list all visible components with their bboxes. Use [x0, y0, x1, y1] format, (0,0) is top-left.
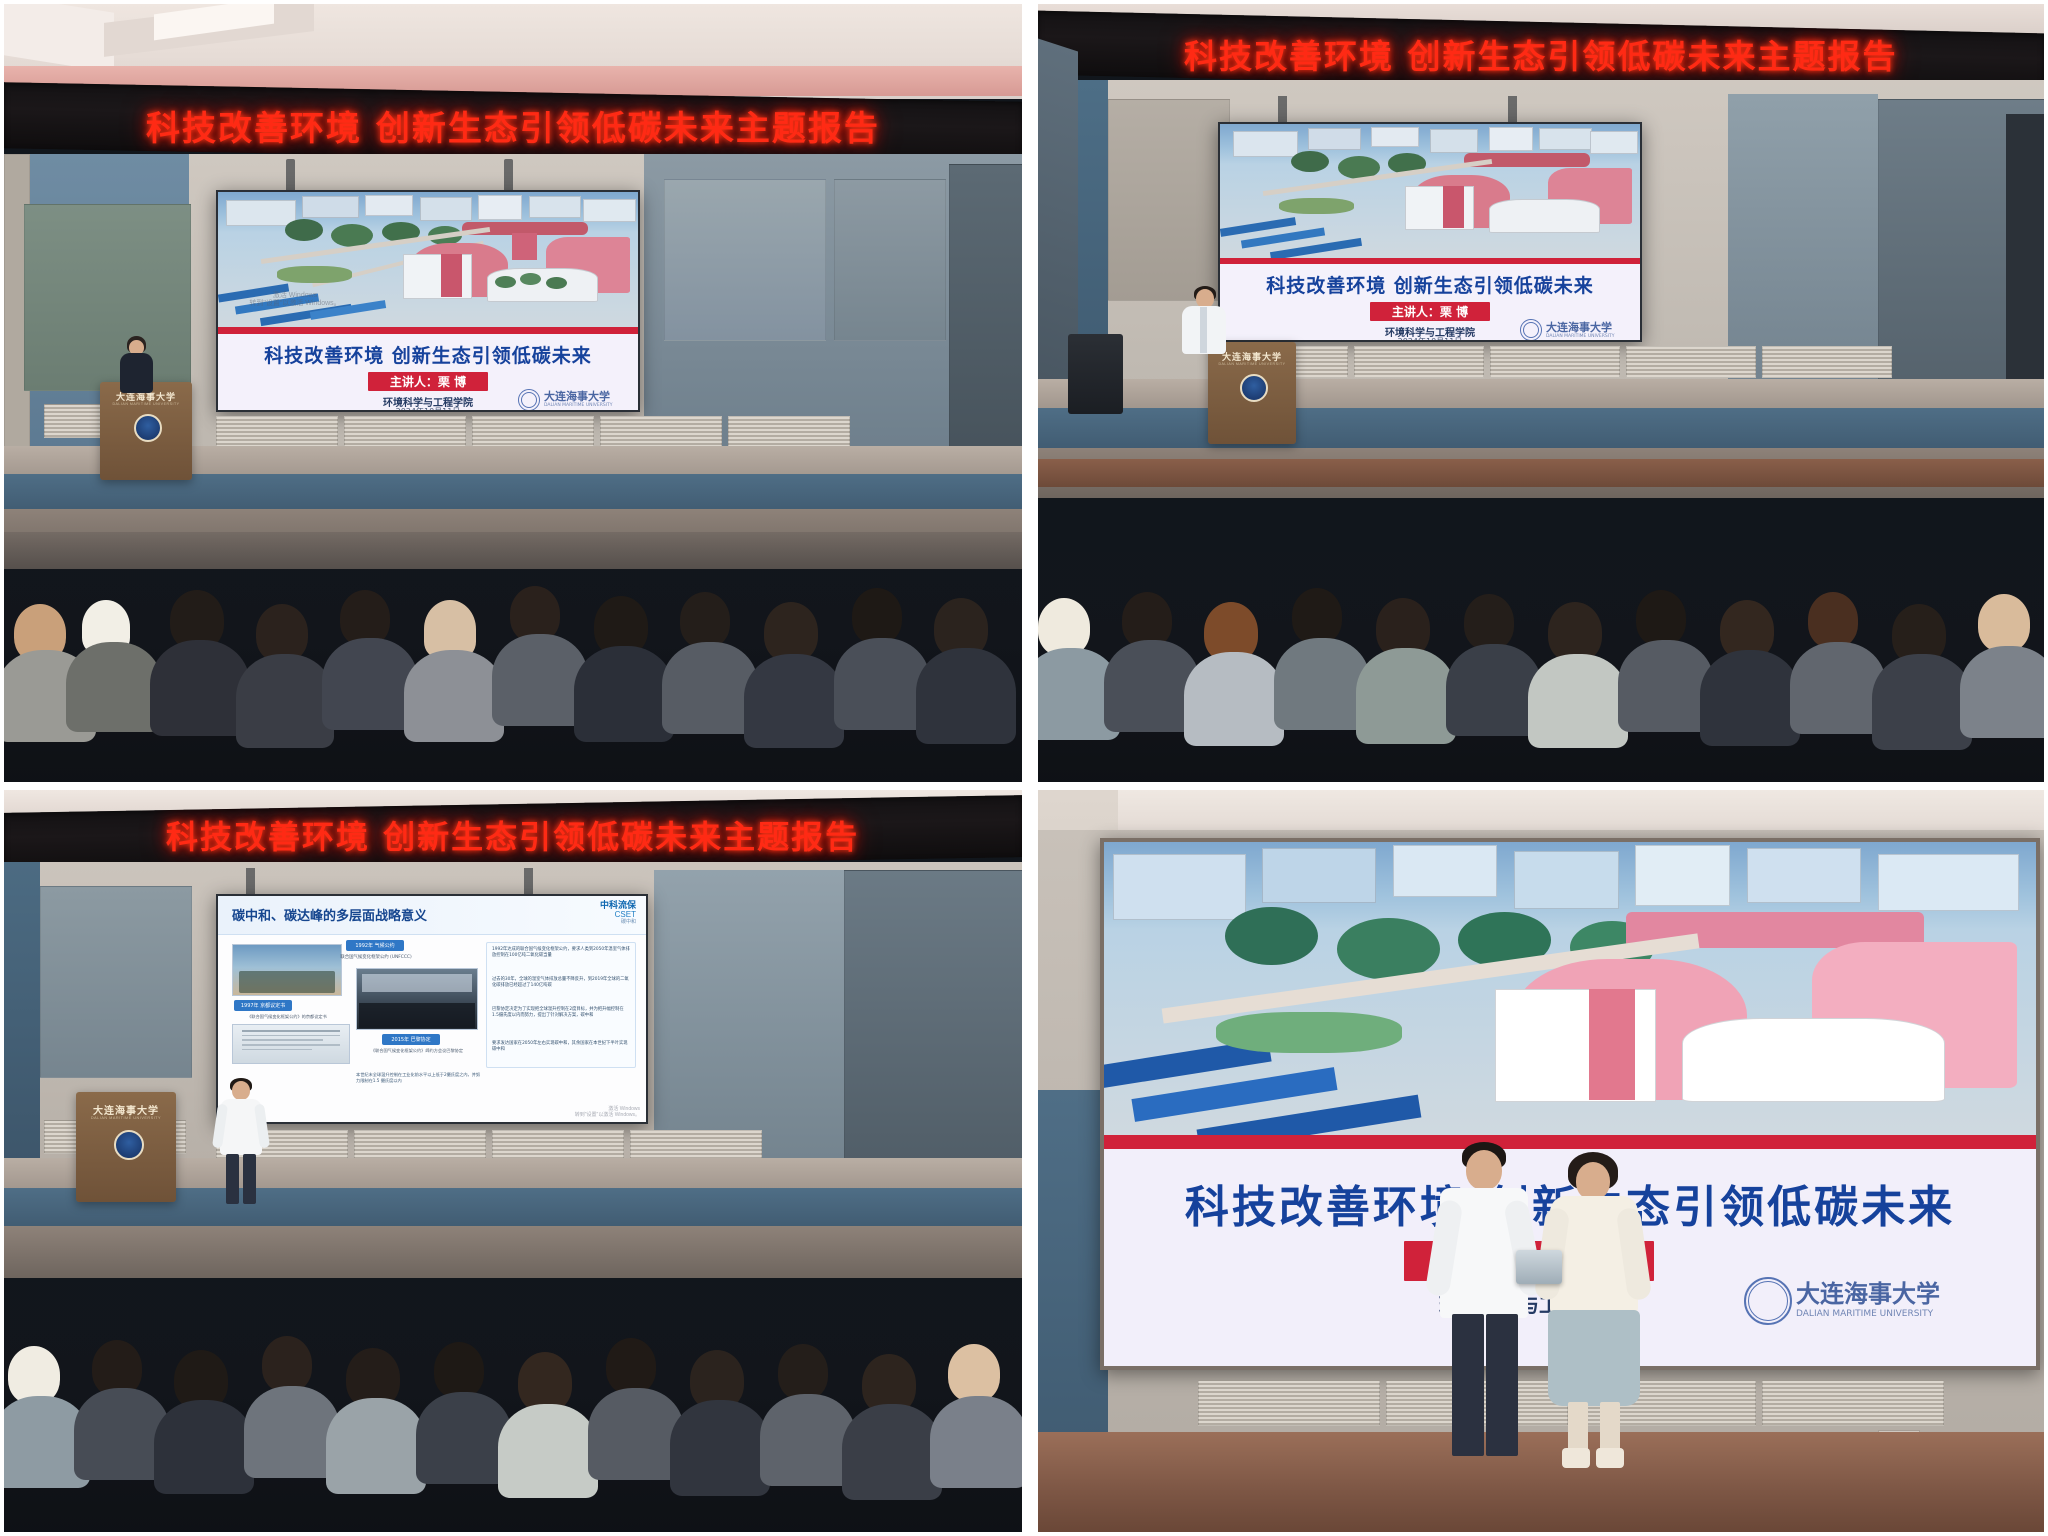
campus-illustration: [1104, 842, 2036, 1135]
projection-screen: 碳中和、碳达峰的多层面战略意义 中科流保 CSET 碳中和 1992年 气候公约…: [216, 894, 648, 1124]
title-slide: 科技改善环境 创新生态引领低碳未来 主讲人：栗 博 环境科学与工程学院 2024…: [218, 192, 638, 410]
award-plaque: [1516, 1250, 1562, 1284]
wall-louver: [216, 416, 338, 448]
title-slide: 科技改善环境 创新生态引领低碳未来 主讲人：栗 博 环境科学与工程学院 2024…: [1220, 124, 1640, 340]
shoe: [1596, 1448, 1624, 1468]
award-presenter-female: [1534, 1152, 1654, 1468]
bullet-4: 要求发达国家在2050年左右实现碳中和，其余国家在本世纪下半叶实现碳中和: [492, 1041, 630, 1054]
slide-main-title: 科技改善环境 创新生态引领低碳未来: [1220, 271, 1640, 298]
timeline-caption-1: 联合国气候变化框架公约 (UNFCCC): [340, 954, 412, 960]
podium-university-name-en: DALIAN MARITIME UNIVERSITY: [100, 402, 192, 406]
podium: 大连海事大学 DALIAN MARITIME UNIVERSITY: [1208, 342, 1296, 444]
wall-panel: [1108, 99, 1230, 301]
university-seal-icon: [1744, 1277, 1792, 1325]
timeline-photo-1: [232, 944, 342, 996]
university-name: 大连海事大学: [544, 391, 613, 402]
windows-activation-watermark: 激活 Windows 转到"设置"以激活 Windows。: [544, 1106, 640, 1119]
slide-footnote: 本世纪末全球温升控制在工业化前水平以上低于2摄氏度之内，并努力限制在1.5 摄氏…: [356, 1072, 482, 1085]
bullets-panel: 1992年达成的联合国气候变化框架公约，要求人类到2050年温室气体排放控制在1…: [486, 942, 636, 1068]
university-logo: 大连海事大学 DALIAN MARITIME UNIVERSITY: [518, 389, 613, 411]
projection-screen: 科技改善环境 创新生态引领低碳未来 主讲人：栗 博 环境科学与工程学院 2024…: [1218, 122, 1642, 342]
wall-louver: [1762, 346, 1892, 378]
side-wall-blue: [1038, 1090, 1108, 1490]
screen-bracket: [1508, 96, 1517, 124]
timeline-year-2: 1997年 京都议定书: [234, 1000, 292, 1011]
university-name-en: DALIAN MARITIME UNIVERSITY: [1796, 1310, 1940, 1319]
university-seal-icon: [1520, 319, 1542, 341]
hall-floor: [4, 1226, 1022, 1278]
wall-louver: [344, 416, 466, 448]
bullet-2: 过去的30年，全球的温室气体排放总量不降反升，到2019年全球的二氧化碳排放已经…: [492, 977, 630, 990]
speaker-badge: 主讲人：栗 博: [368, 372, 488, 391]
speaker-presenter: [1178, 286, 1230, 352]
podium-university-name-en: DALIAN MARITIME UNIVERSITY: [1208, 362, 1296, 366]
side-wall-left: [4, 862, 40, 1162]
skirt: [1548, 1310, 1640, 1406]
university-name: 大连海事大学: [1796, 1282, 1940, 1306]
audience-seating: [1038, 552, 2044, 782]
podium: 大连海事大学 DALIAN MARITIME UNIVERSITY: [76, 1092, 176, 1202]
csei-logo-tag: 碳中和: [600, 920, 636, 925]
timeline-caption-3: 《联合国气候变化框架公约》缔约方会议巴黎协定: [358, 1048, 476, 1054]
screen-bracket: [246, 868, 255, 896]
bullet-1: 1992年达成的联合国气候变化框架公约，要求人类到2050年温室气体排放控制在1…: [492, 947, 630, 960]
wall-louver: [1490, 346, 1620, 378]
title-slide-body: 科技改善环境 创新生态引领低碳未来 主讲人：栗 博 环境科学与工程学院 2024…: [218, 334, 638, 410]
floor-strip: [1038, 459, 2044, 487]
title-slide-body: 科技改善环境 创新生态引领低碳未来 主讲人：栗 博 环境科学与工程学院 2024…: [1220, 264, 1640, 340]
timeline-year-3: 2015年 巴黎协定: [382, 1034, 440, 1045]
podium: 大连海事大学 DALIAN MARITIME UNIVERSITY: [100, 382, 192, 480]
university-logo: 大连海事大学 DALIAN MARITIME UNIVERSITY: [1520, 319, 1615, 341]
slide-date: 2024年10月11日: [1350, 336, 1510, 342]
doorway: [2006, 114, 2044, 384]
wall-panel-dark: [949, 164, 1022, 456]
wall-louver: [472, 416, 594, 448]
panel-2-speaker-presenting: 科技改善环境 创新生态引领低碳未来主题报告: [1038, 4, 2044, 782]
university-name: 大连海事大学: [1546, 322, 1615, 333]
slide-date: 2024年10月11日: [348, 406, 508, 412]
podium-emblem-icon: [114, 1130, 144, 1160]
campus-aerial-photo: [1220, 124, 1640, 258]
audience-seating: [4, 1282, 1022, 1532]
wall-louver: [1198, 1380, 1380, 1426]
podium-emblem-icon: [134, 414, 162, 442]
content-slide: 碳中和、碳达峰的多层面战略意义 中科流保 CSET 碳中和 1992年 气候公约…: [218, 896, 646, 1122]
csei-logo: 中科流保 CSET 碳中和: [600, 902, 636, 925]
wall-louver: [600, 416, 722, 448]
windows-activation-watermark: 激活 Windows 转到"设置"以激活 Windows。: [230, 292, 360, 310]
timeline-year-1: 1992年 气候公约: [346, 940, 404, 951]
wall-panel-green: [24, 204, 191, 391]
screen-bracket: [504, 159, 513, 193]
screen-bracket: [286, 159, 295, 193]
speaker-standing: [214, 1078, 268, 1206]
panel-4-award-photo: 科技改善环境 创新生态引领低碳未来 主讲人：栗 博 环境科学与工程学院 大连海事…: [1038, 790, 2044, 1532]
slide-red-rule: [1104, 1135, 2036, 1148]
screen-bracket: [1278, 96, 1287, 124]
led-banner-text: 科技改善环境 创新生态引领低碳未来主题报告: [1184, 30, 1898, 78]
university-name-en: DALIAN MARITIME UNIVERSITY: [1546, 335, 1615, 340]
wall-panel-right: [1728, 94, 1878, 384]
slide-main-title: 科技改善环境 创新生态引领低碳未来: [218, 341, 638, 368]
wall-panel-right: [664, 179, 826, 341]
award-recipient-male: [1422, 1142, 1542, 1462]
wall-louver: [1354, 346, 1484, 378]
campus-aerial-photo: [1104, 842, 2036, 1135]
screen-bracket: [524, 868, 533, 896]
timeline-caption-2: 《联合国气候变化框架公约》的京都议定书: [228, 1014, 346, 1020]
wall-panel-right: [654, 870, 844, 1160]
shoe: [1562, 1448, 1590, 1468]
wall-louver: [1626, 346, 1756, 378]
wall-panel-right-2: [834, 179, 946, 341]
podium-emblem-icon: [1240, 374, 1268, 402]
host-speaker: [116, 336, 156, 392]
audience-seating: [4, 532, 1022, 782]
wall-panel: [40, 886, 192, 1078]
campus-illustration: [1220, 124, 1640, 258]
timeline-photo-3: [356, 968, 478, 1030]
content-slide-title: 碳中和、碳达峰的多层面战略意义: [232, 905, 427, 924]
bullet-3: 巴黎协定决定为了实现把全球温升控制在2度目标，并为把升幅控制在1.5摄氏度以内而…: [492, 1007, 630, 1020]
photo-collage: 科技改善环境 创新生态引领低碳未来主题报告: [0, 0, 2048, 1536]
led-banner-text: 科技改善环境 创新生态引领低碳未来主题报告: [146, 101, 880, 150]
university-seal-icon: [518, 389, 540, 411]
timeline-doc-2: [232, 1024, 350, 1064]
podium-university-name-en: DALIAN MARITIME UNIVERSITY: [76, 1116, 176, 1120]
university-name-en: DALIAN MARITIME UNIVERSITY: [544, 404, 613, 409]
projection-screen: 科技改善环境 创新生态引领低碳未来 主讲人：栗 博 环境科学与工程学院 2024…: [216, 190, 640, 412]
speaker-badge: 主讲人：栗 博: [1370, 302, 1490, 321]
wall-panel-dark: [844, 870, 1022, 1162]
panel-1-opening-ceremony: 科技改善环境 创新生态引领低碳未来主题报告: [4, 4, 1022, 782]
podium-university-name: 大连海事大学: [76, 1102, 176, 1117]
speaker-cabinet: [1068, 334, 1123, 414]
wall-louver: [728, 416, 850, 448]
panel-3-content-slide-presentation: 科技改善环境 创新生态引领低碳未来主题报告 碳中和、碳达峰的多层面战略意义 中科…: [4, 790, 1022, 1532]
wall-louver: [1762, 1380, 1944, 1426]
university-logo: 大连海事大学 DALIAN MARITIME UNIVERSITY: [1744, 1277, 1940, 1325]
led-banner-text: 科技改善环境 创新生态引领低碳未来主题报告: [166, 812, 859, 858]
